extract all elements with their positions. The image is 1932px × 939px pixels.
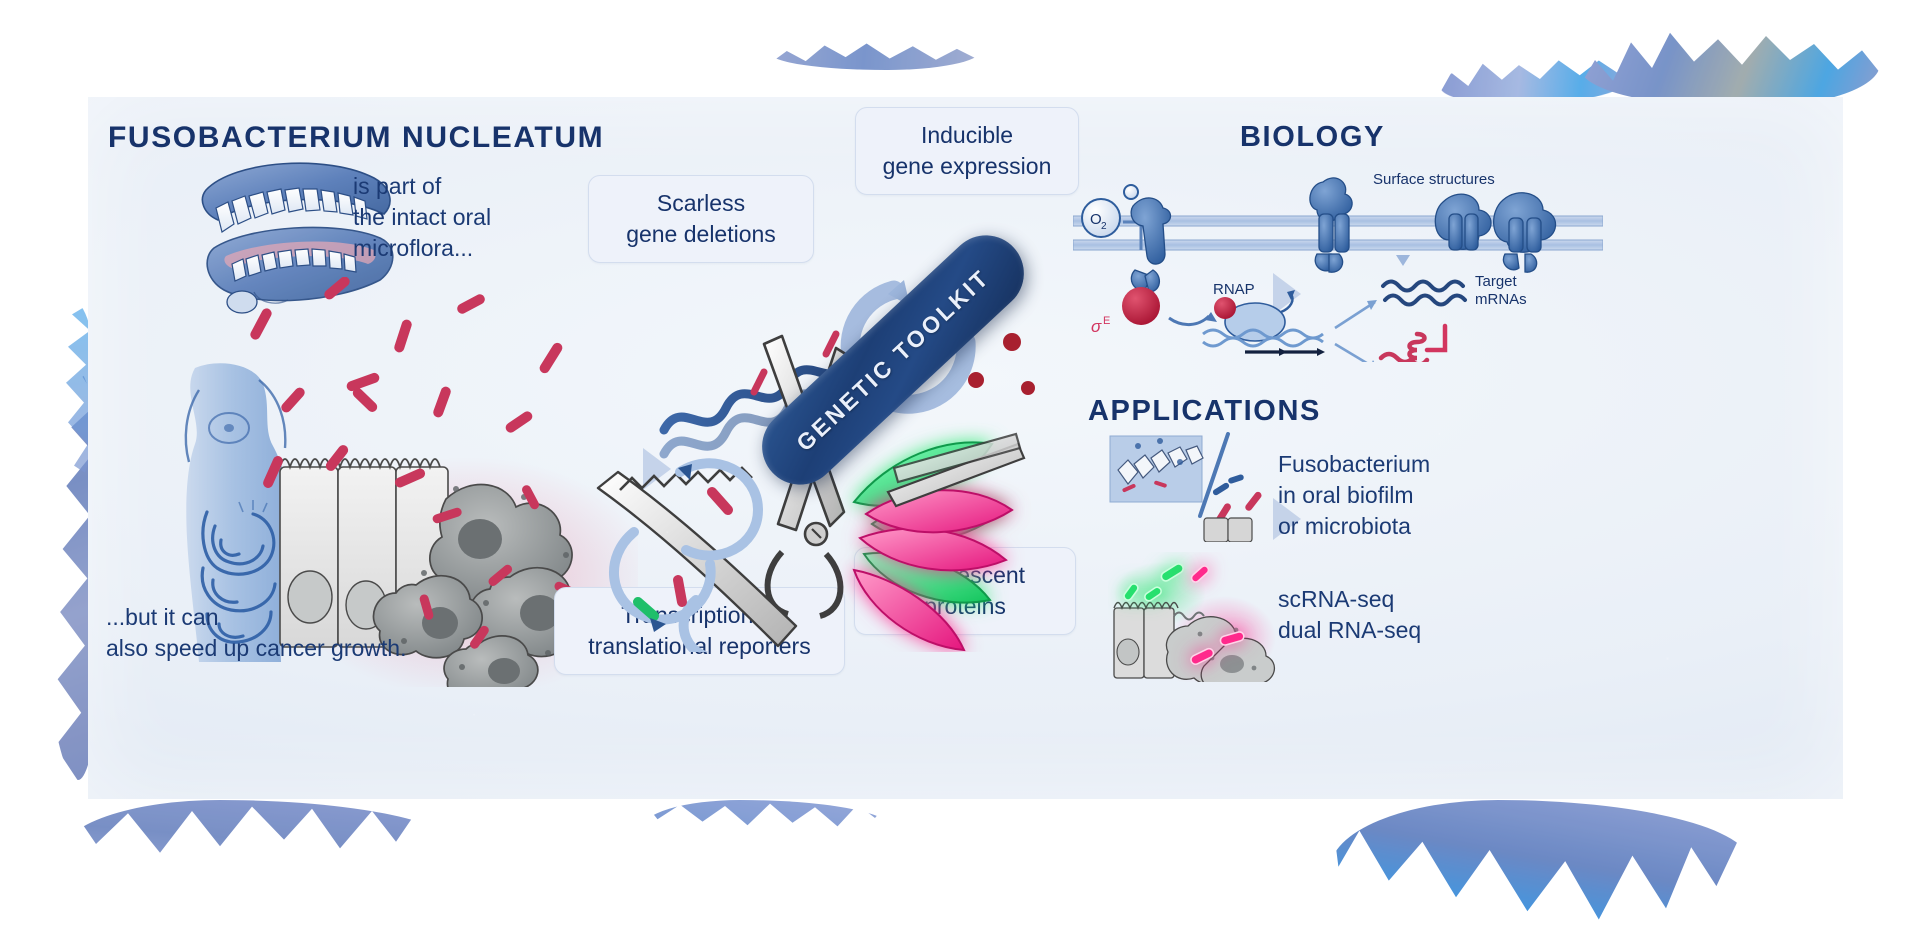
svg-text:E: E [1103, 315, 1110, 327]
svg-text:RNAP: RNAP [1213, 281, 1255, 298]
brush-stroke-bottom-left [60, 800, 460, 910]
label-surface-structures: Surface structures [1373, 171, 1495, 188]
svg-text:2: 2 [1101, 221, 1107, 232]
application-text-rna-seq: scRNA-seq dual RNA-seq [1278, 584, 1421, 646]
svg-text:Target: Target [1475, 273, 1518, 290]
svg-text:O: O [1090, 211, 1102, 228]
fluorescent-cells-thumbnail-illustration [1108, 552, 1283, 682]
genetic-toolkit-illustration: GENETIC TOOLKIT [568, 202, 1088, 652]
section-title-biology: BIOLOGY [1240, 123, 1385, 152]
figure-canvas: FUSOBACTERIUM NUCLEATUM [0, 0, 1932, 939]
abstract-panel: FUSOBACTERIUM NUCLEATUM [88, 97, 1843, 799]
intro-text: is part of the intact oral microflora... [353, 171, 491, 264]
membrane-signalling-diagram: Surface structures O 2 [1073, 162, 1603, 362]
svg-text:mRNAs: mRNAs [1475, 291, 1527, 308]
application-text-oral-biofilm: Fusobacterium in oral biofilm or microbi… [1278, 449, 1430, 542]
brush-stroke-top-center [770, 30, 980, 72]
brush-stroke-bottom-right [1330, 800, 1750, 939]
biofilm-thumbnail-illustration [1108, 432, 1273, 542]
brush-stroke-bottom-center [640, 800, 890, 860]
page-title-fusobacterium: FUSOBACTERIUM NUCLEATUM [108, 123, 604, 153]
section-title-applications: APPLICATIONS [1088, 397, 1321, 426]
cancer-text: ...but it can also speed up cancer growt… [106, 602, 406, 664]
svg-text:σ: σ [1091, 317, 1102, 336]
callout-inducible-gene-expression[interactable]: Inducible gene expression [855, 107, 1079, 195]
